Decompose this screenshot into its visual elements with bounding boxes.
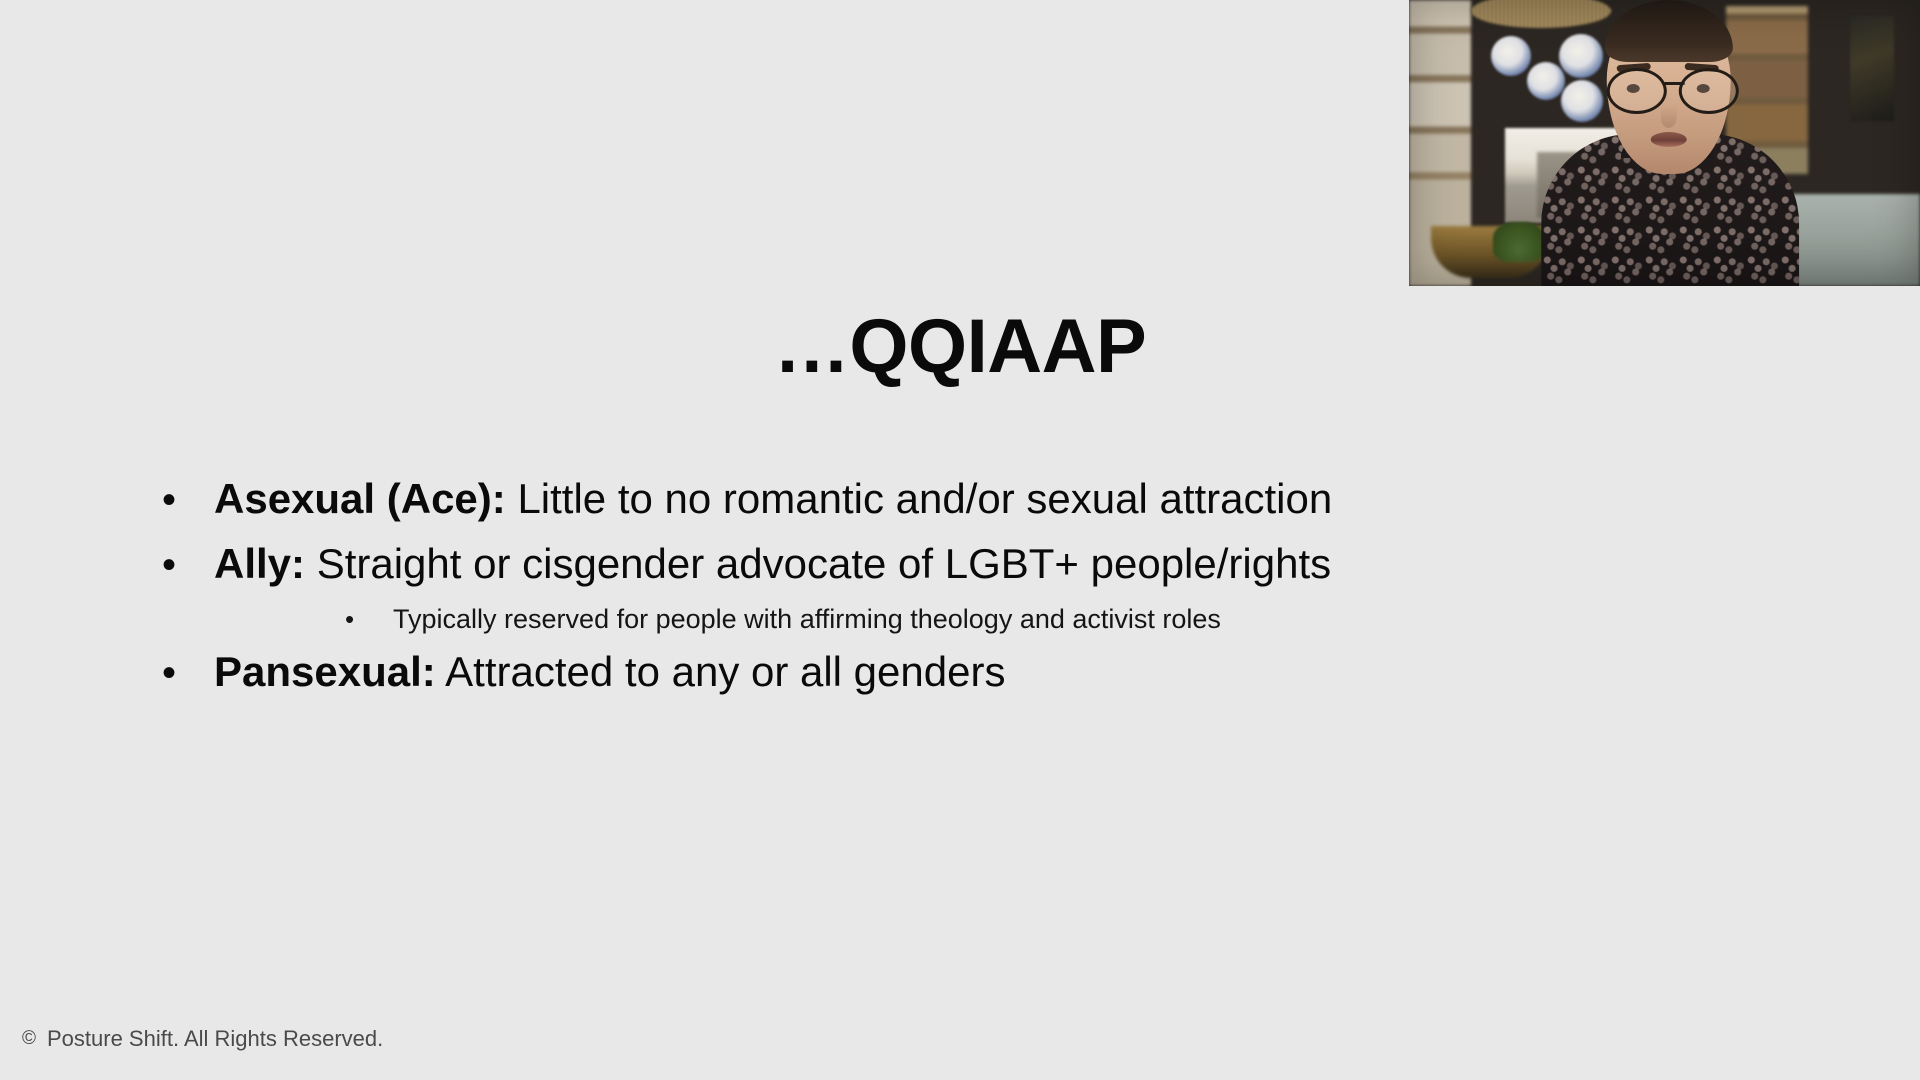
bullet-definition: Attracted to any or all genders xyxy=(436,648,1006,695)
bullet-term: Pansexual xyxy=(214,648,422,695)
bullet-marker-icon: • xyxy=(162,545,214,585)
presentation-slide: …QQIAAP • Asexual (Ace): Little to no ro… xyxy=(0,0,1920,1080)
glasses-lens-left xyxy=(1606,68,1666,114)
bullet-item-asexual: • Asexual (Ace): Little to no romantic a… xyxy=(0,474,1920,524)
sub-bullet-item-ally-note: • Typically reserved for people with aff… xyxy=(0,603,1920,635)
bullet-text: Ally: Straight or cisgender advocate of … xyxy=(214,539,1331,589)
bullet-text: Pansexual: Attracted to any or all gende… xyxy=(214,647,1005,697)
bullet-separator: : xyxy=(422,648,436,695)
sub-bullet-text: Typically reserved for people with affir… xyxy=(393,603,1221,635)
bullet-term: Asexual (Ace) xyxy=(214,475,492,522)
glasses-icon xyxy=(1604,68,1740,108)
slide-title: …QQIAAP xyxy=(0,309,1920,385)
bullet-term: Ally xyxy=(214,540,291,587)
bullet-definition: Straight or cisgender advocate of LGBT+ … xyxy=(305,540,1331,587)
slide-footer: © Posture Shift. All Rights Reserved. xyxy=(22,1026,383,1052)
presenter-nose xyxy=(1660,106,1676,128)
footer-text: Posture Shift. All Rights Reserved. xyxy=(47,1026,383,1052)
bullet-item-pansexual: • Pansexual: Attracted to any or all gen… xyxy=(0,647,1920,697)
bullet-definition: Little to no romantic and/or sexual attr… xyxy=(506,475,1332,522)
bullet-separator: : xyxy=(492,475,506,522)
bullet-text: Asexual (Ace): Little to no romantic and… xyxy=(214,474,1332,524)
presenter-figure xyxy=(1409,0,1920,286)
presenter-mouth xyxy=(1650,132,1686,147)
sub-bullet-marker-icon: • xyxy=(345,606,393,632)
bullet-item-ally: • Ally: Straight or cisgender advocate o… xyxy=(0,539,1920,589)
slide-body-list: • Asexual (Ace): Little to no romantic a… xyxy=(0,474,1920,712)
bullet-separator: : xyxy=(291,540,305,587)
bullet-marker-icon: • xyxy=(162,480,214,520)
presenter-video-overlay[interactable] xyxy=(1409,0,1920,286)
presenter-hair xyxy=(1604,0,1732,62)
bullet-marker-icon: • xyxy=(162,653,214,693)
copyright-icon: © xyxy=(22,1028,36,1050)
glasses-lens-right xyxy=(1678,68,1738,114)
